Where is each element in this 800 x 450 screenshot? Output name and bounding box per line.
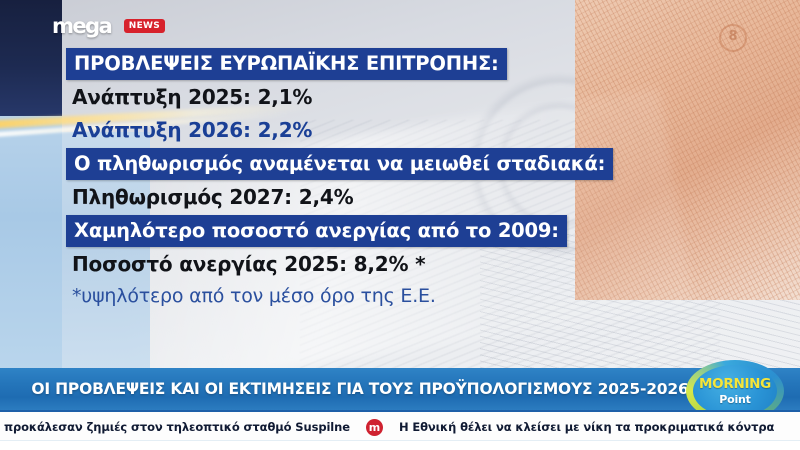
headline-text-1: Ανάπτυξη 2025: 2,1% <box>66 82 320 113</box>
background-watermark-number: 8 <box>719 24 747 52</box>
headline-row-7: *υψηλότερο από τον μέσο όρο της Ε.Ε. <box>66 282 706 311</box>
ticker-item-0: προκάλεσαν ζημιές στον τηλεοπτικό σταθμό… <box>4 420 350 434</box>
headline-row-3: Ο πληθωρισμός αναμένεται να μειωθεί σταδ… <box>66 148 706 180</box>
ticker-bottom-strip <box>0 440 800 450</box>
ticker-item-1: Η Εθνική θέλει να κλείσει με νίκη τα προ… <box>399 420 774 434</box>
headline-list: ΠΡΟΒΛΕΨΕΙΣ ΕΥΡΩΠΑΪΚΗΣ ΕΠΙΤΡΟΠΗΣ: Ανάπτυξ… <box>66 48 706 313</box>
channel-logo: mega NEWS <box>52 14 165 38</box>
headline-row-2: Ανάπτυξη 2026: 2,2% <box>66 115 706 146</box>
headline-text-3: Ο πληθωρισμός αναμένεται να μειωθεί σταδ… <box>66 148 613 180</box>
headline-row-5: Χαμηλότερο ποσοστό ανεργίας από το 2009: <box>66 215 706 247</box>
headline-row-1: Ανάπτυξη 2025: 2,1% <box>66 82 706 113</box>
headline-text-4: Πληθωρισμός 2027: 2,4% <box>66 182 361 213</box>
headline-text-2: Ανάπτυξη 2026: 2,2% <box>66 115 320 146</box>
headline-row-4: Πληθωρισμός 2027: 2,4% <box>66 182 706 213</box>
lower-third-text: ΟΙ ΠΡΟΒΛΕΨΕΙΣ ΚΑΙ ΟΙ ΕΚΤΙΜΗΣΕΙΣ ΓΙΑ ΤΟΥΣ… <box>31 380 768 398</box>
headline-row-6: Ποσοστό ανεργίας 2025: 8,2% * <box>66 249 706 280</box>
show-logo-line1: MORNING <box>699 376 771 392</box>
show-logo-line2: Point <box>719 393 750 406</box>
news-badge: NEWS <box>124 19 165 33</box>
headline-text-7: *υψηλότερο από τον μέσο όρο της Ε.Ε. <box>66 282 444 311</box>
headline-text-5: Χαμηλότερο ποσοστό ανεργίας από το 2009: <box>66 215 567 247</box>
headline-text-6: Ποσοστό ανεργίας 2025: 8,2% * <box>66 249 433 280</box>
mega-wordmark: mega <box>52 14 111 38</box>
headline-text-0: ΠΡΟΒΛΕΨΕΙΣ ΕΥΡΩΠΑΪΚΗΣ ΕΠΙΤΡΟΠΗΣ: <box>66 48 507 80</box>
broadcast-screen: 8 mega NEWS ΠΡΟΒΛΕΨΕΙΣ ΕΥΡΩΠΑΪΚΗΣ ΕΠΙΤΡΟ… <box>0 0 800 450</box>
headline-row-0: ΠΡΟΒΛΕΨΕΙΣ ΕΥΡΩΠΑΪΚΗΣ ΕΠΙΤΡΟΠΗΣ: <box>66 48 706 80</box>
news-ticker: προκάλεσαν ζημιές στον τηλεοπτικό σταθμό… <box>0 410 800 442</box>
lower-third-banner: ΟΙ ΠΡΟΒΛΕΨΕΙΣ ΚΑΙ ΟΙ ΕΚΤΙΜΗΣΕΙΣ ΓΙΑ ΤΟΥΣ… <box>0 368 800 410</box>
background-lightblue-panel <box>0 116 62 368</box>
ticker-separator-icon: m <box>366 419 383 436</box>
